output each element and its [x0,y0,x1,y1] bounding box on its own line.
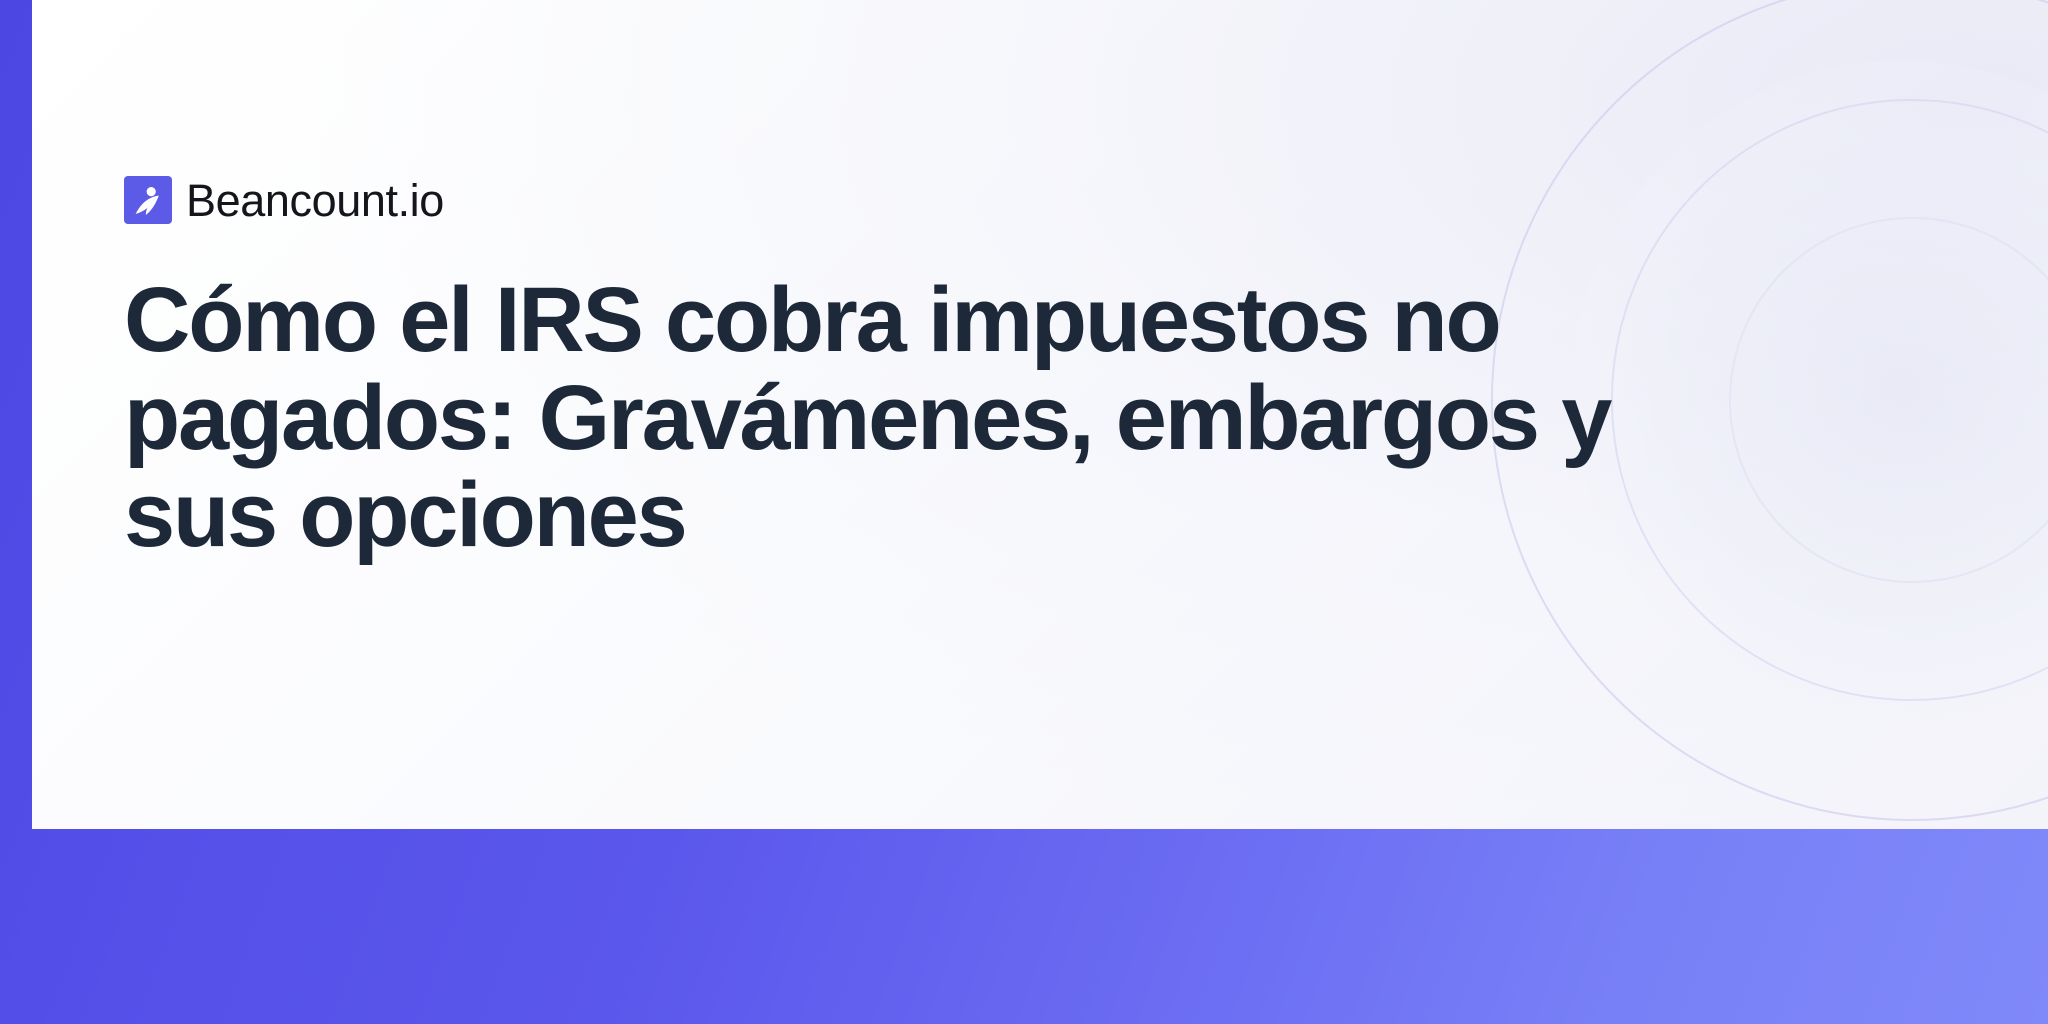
page-title-line-1: Cómo el IRS cobra impuestos no [124,272,1544,370]
decor-ring-inner [1730,218,2048,582]
decor-ring-middle [1612,100,2048,700]
brand-name: Beancount.io [186,178,444,223]
page-title-line-2: pagados: Gravámenes, embargos y [124,370,1544,468]
decor-disc [1572,60,2048,720]
page-title: Cómo el IRS cobra impuestos no pagados: … [124,272,1544,565]
content-card: Beancount.io Cómo el IRS cobra impuestos… [32,0,2048,829]
social-card-canvas: Beancount.io Cómo el IRS cobra impuestos… [0,0,2048,1024]
page-title-line-3: sus opciones [124,467,1544,565]
brand-lockup[interactable]: Beancount.io [124,176,444,224]
beancount-figure-icon [124,176,172,224]
